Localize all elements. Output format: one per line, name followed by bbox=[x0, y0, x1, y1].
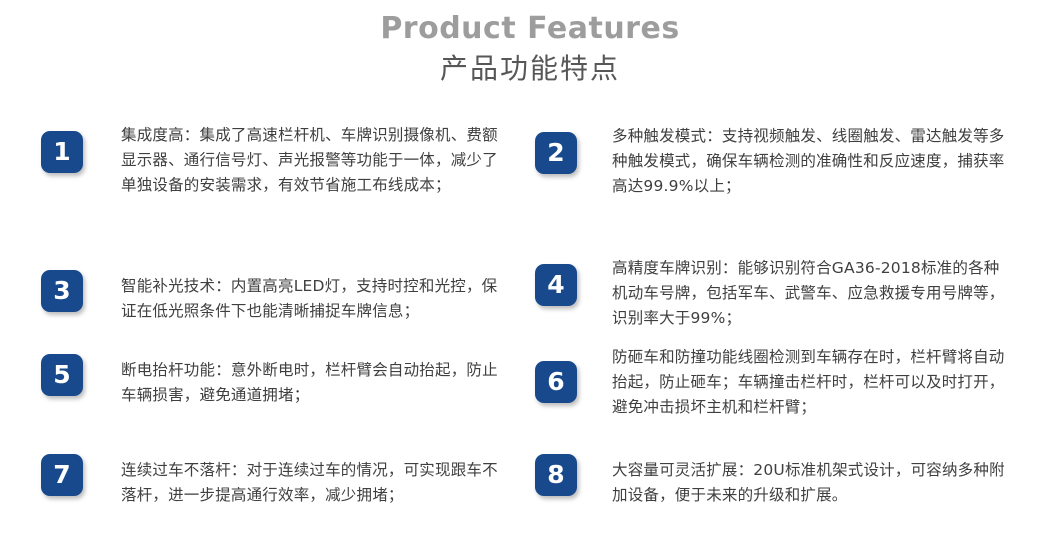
page-title-english: Product Features bbox=[0, 10, 1060, 48]
feature-number-badge-3: 3 bbox=[41, 270, 83, 312]
feature-item-8: 8 大容量可灵活扩展：20U标准机架式设计，可容纳多种附加设备，便于未来的升级和… bbox=[510, 433, 1060, 533]
feature-item-6: 6 防砸车和防撞功能线圈检测到车辆存在时，栏杆臂将自动抬起，防止砸车；车辆撞击栏… bbox=[510, 333, 1060, 433]
feature-number-badge-5: 5 bbox=[41, 354, 83, 396]
feature-number-badge-7: 7 bbox=[41, 454, 83, 496]
feature-description-7: 连续过车不落杆：对于连续过车的情况，可实现跟车不落杆，进一步提高通行效率，减少拥… bbox=[121, 458, 510, 508]
feature-grid: 1 集成度高：集成了高速栏杆机、车牌识别摄像机、费额显示器、通行信号灯、声光报警… bbox=[0, 112, 1060, 533]
feature-item-7: 7 连续过车不落杆：对于连续过车的情况，可实现跟车不落杆，进一步提高通行效率，减… bbox=[0, 433, 510, 533]
feature-number-badge-2: 2 bbox=[535, 132, 577, 174]
feature-description-4: 高精度车牌识别：能够识别符合GA36-2018标准的各种机动车号牌，包括军车、武… bbox=[612, 256, 1012, 331]
feature-description-1: 集成度高：集成了高速栏杆机、车牌识别摄像机、费额显示器、通行信号灯、声光报警等功… bbox=[121, 123, 510, 198]
feature-row: 5 断电抬杆功能：意外断电时，栏杆臂会自动抬起，防止车辆损害，避免通道拥堵； 6… bbox=[0, 333, 1060, 433]
feature-description-5: 断电抬杆功能：意外断电时，栏杆臂会自动抬起，防止车辆损害，避免通道拥堵； bbox=[121, 358, 510, 408]
page-title-chinese: 产品功能特点 bbox=[0, 48, 1060, 88]
feature-row: 3 智能补光技术：内置高亮LED灯，支持时控和光控，保证在低光照条件下也能清晰捕… bbox=[0, 232, 1060, 333]
feature-item-1: 1 集成度高：集成了高速栏杆机、车牌识别摄像机、费额显示器、通行信号灯、声光报警… bbox=[0, 112, 510, 232]
feature-description-8: 大容量可灵活扩展：20U标准机架式设计，可容纳多种附加设备，便于未来的升级和扩展… bbox=[612, 458, 1012, 508]
page-header: Product Features 产品功能特点 bbox=[0, 0, 1060, 88]
feature-row: 1 集成度高：集成了高速栏杆机、车牌识别摄像机、费额显示器、通行信号灯、声光报警… bbox=[0, 112, 1060, 232]
feature-description-2: 多种触发模式：支持视频触发、线圈触发、雷达触发等多种触发模式，确保车辆检测的准确… bbox=[612, 124, 1012, 199]
feature-number-badge-8: 8 bbox=[535, 454, 577, 496]
product-features-page: Product Features 产品功能特点 1 集成度高：集成了高速栏杆机、… bbox=[0, 0, 1060, 535]
feature-number-badge-4: 4 bbox=[535, 264, 577, 306]
feature-item-3: 3 智能补光技术：内置高亮LED灯，支持时控和光控，保证在低光照条件下也能清晰捕… bbox=[0, 232, 510, 333]
feature-description-6: 防砸车和防撞功能线圈检测到车辆存在时，栏杆臂将自动抬起，防止砸车；车辆撞击栏杆时… bbox=[612, 345, 1012, 420]
feature-number-badge-1: 1 bbox=[41, 131, 83, 173]
feature-number-badge-6: 6 bbox=[535, 361, 577, 403]
feature-item-5: 5 断电抬杆功能：意外断电时，栏杆臂会自动抬起，防止车辆损害，避免通道拥堵； bbox=[0, 333, 510, 433]
feature-item-4: 4 高精度车牌识别：能够识别符合GA36-2018标准的各种机动车号牌，包括军车… bbox=[510, 232, 1060, 333]
feature-description-3: 智能补光技术：内置高亮LED灯，支持时控和光控，保证在低光照条件下也能清晰捕捉车… bbox=[121, 274, 510, 324]
feature-item-2: 2 多种触发模式：支持视频触发、线圈触发、雷达触发等多种触发模式，确保车辆检测的… bbox=[510, 112, 1060, 232]
feature-row: 7 连续过车不落杆：对于连续过车的情况，可实现跟车不落杆，进一步提高通行效率，减… bbox=[0, 433, 1060, 533]
